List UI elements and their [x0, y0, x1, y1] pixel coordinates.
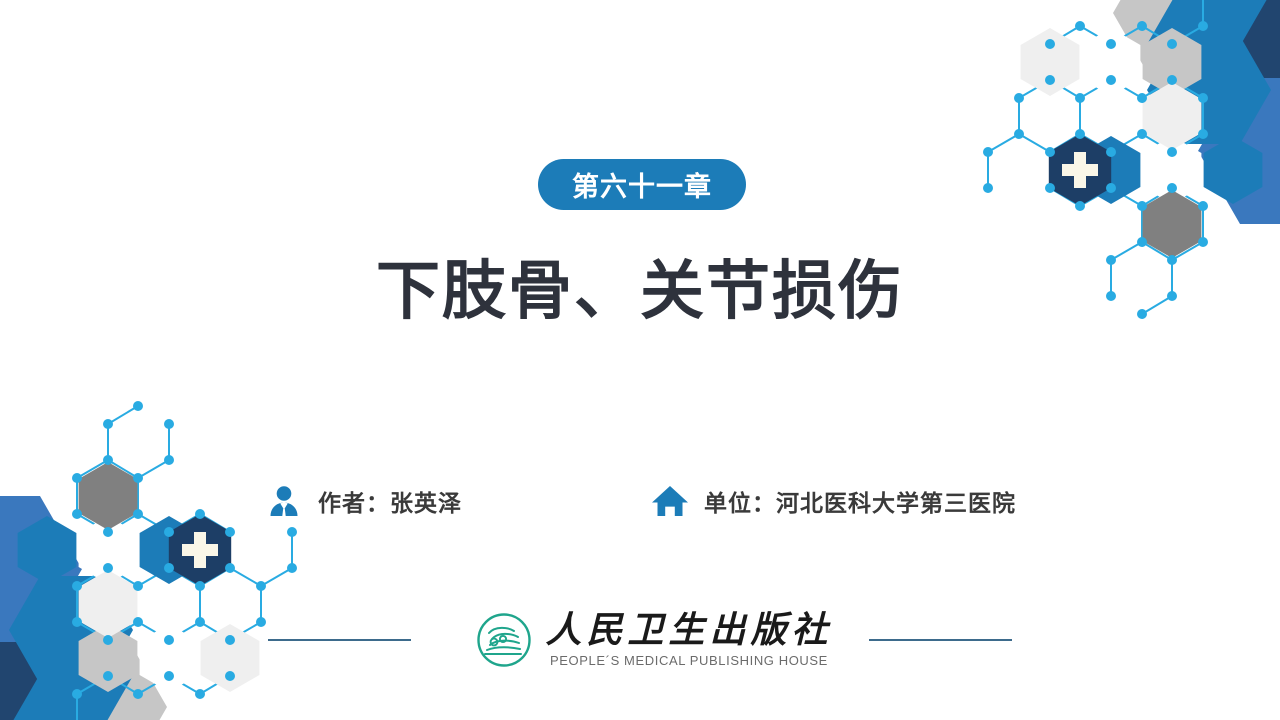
institution-label: 单位：河北医科大学第三医院: [704, 484, 1016, 518]
publisher-names: 人民卫生出版社 PEOPLE´S MEDICAL PUBLISHING HOUS…: [545, 612, 832, 668]
institution-block: 单位：河北医科大学第三医院: [650, 476, 1016, 526]
divider-left: [268, 639, 411, 641]
small-hex-tiles: [1021, 28, 1263, 258]
chapter-badge: 第六十一章: [538, 159, 746, 210]
footer: 人民卫生出版社 PEOPLE´S MEDICAL PUBLISHING HOUS…: [0, 600, 1280, 680]
publisher-name-cn: 人民卫生出版社: [545, 612, 832, 650]
author-block: 作者：张英泽: [264, 476, 462, 526]
medical-cross-hex-icon: [1049, 134, 1111, 206]
home-icon: [650, 481, 690, 521]
person-icon: [264, 481, 304, 521]
pmph-emblem-icon: [473, 609, 535, 671]
publisher-logo: 人民卫生出版社 PEOPLE´S MEDICAL PUBLISHING HOUS…: [473, 609, 832, 671]
presentation-slide: 第六十一章 下肢骨、关节损伤 作者：张英泽 单位：河北医科大学第三医院: [0, 0, 1280, 720]
large-hex-cluster: [1113, 0, 1280, 224]
divider-right: [869, 639, 1012, 641]
meta-row: 作者：张英泽 单位：河北医科大学第三医院: [0, 476, 1280, 526]
publisher-name-en: PEOPLE´S MEDICAL PUBLISHING HOUSE: [550, 653, 828, 668]
author-label: 作者：张英泽: [318, 484, 462, 518]
page-title: 下肢骨、关节损伤: [0, 255, 1280, 329]
